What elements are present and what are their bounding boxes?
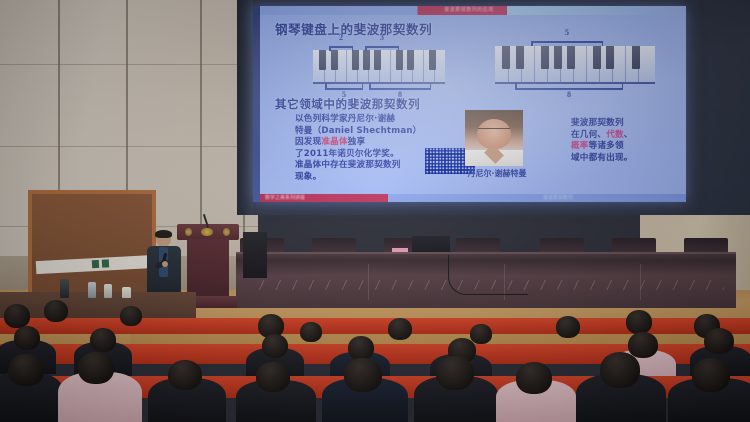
audience-head: [344, 358, 382, 392]
body-line: 现象。: [295, 172, 435, 184]
glasses-icon: [478, 128, 510, 133]
brace-label: 8: [567, 90, 571, 99]
body-line-highlighted: 因发现准晶体独享: [295, 137, 435, 149]
screen-surround-edge: [237, 0, 253, 215]
portrait-photo-shechtman: [465, 110, 523, 166]
slide-footer-bar: [260, 194, 686, 202]
audience-head: [168, 360, 202, 390]
highlight-algebra: 代数: [606, 130, 624, 140]
portrait-caption: 丹尼尔·谢赫特曼: [453, 168, 541, 179]
body-line: 准晶体中存在斐波那契数列: [295, 160, 435, 172]
audience-head: [300, 322, 322, 342]
audience-head: [14, 326, 40, 350]
projection-screen[interactable]: 斐波那契数列的应用 钢琴键盘上的斐波那契数列 2 3: [253, 6, 686, 202]
water-bottle: [104, 284, 112, 298]
audience-head: [78, 352, 114, 384]
body-line: 以色列科学家丹尼尔·谢赫: [295, 114, 435, 126]
equipment-case: [243, 232, 267, 278]
audience-head: [262, 334, 288, 358]
audience: [0, 300, 750, 422]
audience-head: [626, 310, 652, 334]
slide-left-accent-bar: [253, 6, 260, 202]
slide-title: 钢琴键盘上的斐波那契数列: [275, 19, 432, 38]
audience-head: [628, 332, 658, 358]
audience-head: [600, 352, 640, 388]
slide-body-text: 以色列科学家丹尼尔·谢赫 特曼（Daniel Shechtman） 因发现准晶体…: [295, 114, 435, 184]
audience-head: [44, 300, 68, 322]
body-line: 了2011年诺贝尔化学奖。: [295, 149, 435, 161]
slide-right-note: 斐波那契数列 在几何、代数、 概率等诸多领 域中都有出现。: [571, 118, 671, 164]
audience-head: [120, 306, 142, 326]
highlight-quasicrystal: 准晶体: [321, 137, 347, 147]
piano-keyboard-left: [313, 50, 445, 84]
note-line: 斐波那契数列: [571, 118, 671, 130]
piano-right-brace-5: 5: [531, 37, 603, 47]
brace-label: 3: [380, 33, 384, 42]
lecture-hall-photo: 斐波那契数列的应用 钢琴键盘上的斐波那契数列 2 3: [0, 0, 750, 422]
audience-head: [516, 362, 552, 394]
audience-head: [256, 362, 290, 392]
audience-head: [388, 318, 412, 340]
piano-right-brace-8: 8: [515, 86, 623, 98]
audience-head: [692, 358, 730, 392]
power-cable: [448, 255, 528, 295]
piano-left-brace-3: 3: [365, 42, 399, 52]
audience-head: [436, 356, 474, 390]
thermos: [60, 279, 69, 298]
audience-head: [704, 328, 734, 354]
piano-left-brace-2: 2: [329, 42, 353, 52]
audience-head: [470, 324, 492, 344]
slide-footer-right-text: 斐波那契数列: [543, 194, 573, 202]
paper-cup: [122, 287, 131, 298]
note-line: 域中都有出现。: [571, 153, 671, 165]
slide-header-banner-text: 斐波那契数列的应用: [423, 6, 515, 15]
audience-head: [348, 336, 374, 360]
podium-emblem: [201, 228, 213, 236]
note-line: 在几何、代数、: [571, 130, 671, 142]
audience-head: [4, 304, 30, 328]
audience-head: [8, 354, 44, 386]
brace-label: 5: [565, 28, 569, 37]
audience-head: [90, 328, 116, 352]
highlight-probability: 概率: [571, 141, 589, 151]
audience-head: [556, 316, 580, 338]
water-bottle: [88, 282, 96, 298]
brace-label: 2: [339, 33, 343, 42]
piano-keyboard-right: [495, 46, 655, 84]
body-line: 特曼（Daniel Shechtman）: [295, 126, 435, 138]
slide-footer-left-text: 数学之美系列讲座: [265, 194, 305, 202]
note-line: 概率等诸多领: [571, 141, 671, 153]
slide-section-heading: 其它领域中的斐波那契数列: [275, 96, 420, 112]
